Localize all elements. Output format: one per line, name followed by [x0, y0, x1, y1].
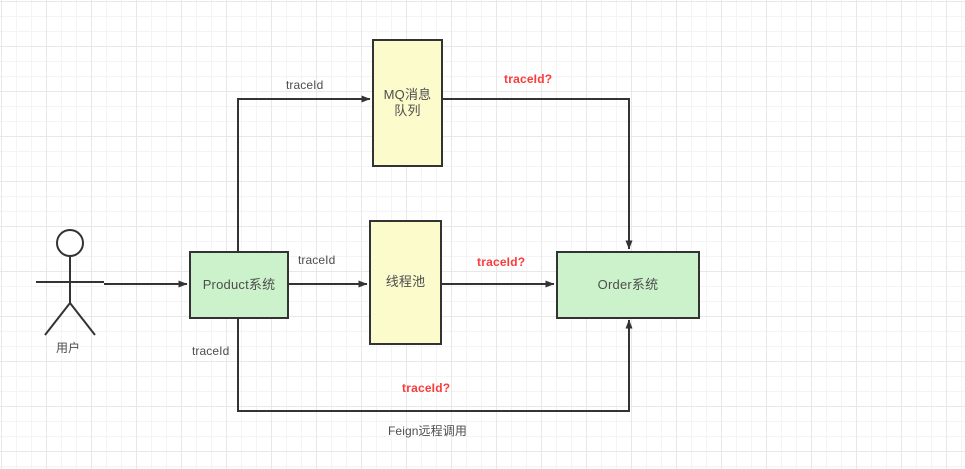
- edge-label-product-branch-down: traceId: [192, 344, 229, 358]
- diagram-connectors-layer: [0, 0, 965, 469]
- edge-label-product-to-mq: traceId: [286, 78, 323, 92]
- edge-mq-to-order: [443, 99, 629, 249]
- edge-label-mq-to-order: traceId?: [504, 72, 552, 86]
- node-product-system[interactable]: Product系统: [189, 251, 289, 319]
- edge-label-product-to-pool: traceId: [298, 253, 335, 267]
- node-product-system-label: Product系统: [203, 277, 276, 293]
- edge-label-pool-to-order: traceId?: [477, 255, 525, 269]
- diagram-canvas: MQ消息 队列 Product系统 线程池 Order系统 用户 traceId…: [0, 0, 965, 469]
- node-thread-pool-label: 线程池: [386, 274, 426, 290]
- edge-label-feign-to-order: traceId?: [402, 381, 450, 395]
- actor-user-label: 用户: [56, 339, 80, 356]
- node-thread-pool[interactable]: 线程池: [369, 220, 442, 345]
- annotation-feign-remote-call: Feign远程调用: [388, 422, 467, 439]
- node-order-system-label: Order系统: [598, 277, 659, 293]
- node-mq-queue[interactable]: MQ消息 队列: [372, 39, 443, 167]
- edge-product-to-mq: [238, 99, 370, 251]
- node-mq-queue-label: MQ消息 队列: [384, 87, 432, 120]
- actor-user-figure: [36, 230, 104, 335]
- node-order-system[interactable]: Order系统: [556, 251, 700, 319]
